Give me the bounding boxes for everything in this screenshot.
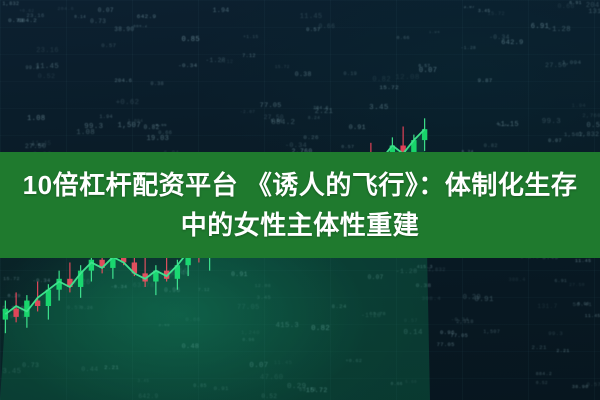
faint-number: 1,507: [483, 329, 500, 335]
faint-number: 99.3: [542, 118, 561, 126]
faint-number: 7.12: [242, 53, 256, 59]
title-line-1: 10倍杠杆配资平台 《诱人的飞行》：体制化生存: [23, 165, 578, 205]
faint-number: 0.57: [101, 42, 116, 49]
faint-number: 0.57: [418, 64, 430, 69]
title-line-2: 中的女性主体性重建: [23, 205, 578, 245]
faint-number: 0.07: [98, 7, 114, 14]
faint-number: 884.2: [536, 372, 552, 377]
faint-number: 0.19: [344, 71, 358, 77]
faint-number: 0.73: [8, 17, 24, 24]
faint-number: 0.73: [90, 18, 106, 25]
faint-number: 0.52: [587, 122, 600, 130]
faint-number: -1.28: [461, 46, 477, 51]
candle-body-up: [56, 279, 61, 290]
faint-number: 2,318: [456, 319, 474, 325]
faint-number: 23.16: [27, 13, 45, 19]
faint-number: 1,832: [428, 267, 446, 273]
faint-number: 1.94: [429, 31, 440, 35]
faint-number: 0.66: [319, 23, 336, 30]
faint-number: 15.72: [379, 84, 399, 91]
faint-number: 15.72: [275, 65, 290, 70]
faint-number: 0.82: [372, 76, 391, 84]
faint-number: 0.52: [38, 73, 56, 81]
faint-number: 9.87: [478, 77, 493, 84]
faint-number: -1.28: [205, 57, 225, 64]
faint-number: 6.91: [555, 279, 568, 284]
faint-number: 0.38: [295, 71, 312, 78]
faint-number: 0.66: [397, 36, 410, 41]
faint-number: 204.6: [57, 7, 74, 12]
faint-number: 99.3: [548, 330, 563, 337]
faint-number: -0.34: [178, 62, 197, 69]
faint-number: 204.6: [114, 78, 132, 84]
faint-number: 3.07: [464, 6, 475, 10]
faint-number: 12.08: [395, 74, 420, 82]
faint-number: 884.2: [133, 25, 147, 29]
faint-number: 1.94: [213, 7, 230, 14]
faint-number: 6.91: [531, 23, 549, 31]
faint-number: 77.05: [451, 333, 469, 339]
faint-number: 27.50: [545, 62, 567, 69]
faint-number: 0.14: [74, 15, 86, 20]
faint-number: 11.45: [585, 314, 600, 319]
faint-number: 0.82: [484, 143, 498, 149]
faint-number: 0.85: [181, 36, 200, 44]
faint-number: 642.9: [501, 39, 523, 47]
faint-number: 2.21: [556, 349, 569, 354]
thumbnail-image: 99.312.080.9611.450.441,5070.8527.50-1.2…: [0, 0, 600, 400]
faint-number: 3.45: [478, 9, 490, 14]
candle-body-down: [13, 309, 18, 317]
faint-number: +1.15: [496, 121, 519, 129]
faint-number: 38.90: [572, 385, 589, 390]
page-title: 10倍杠杆配资平台 《诱人的飞行》：体制化生存 中的女性主体性重建: [23, 165, 578, 245]
faint-number: 2,760: [582, 112, 600, 119]
faint-number: 27.50: [569, 283, 585, 288]
faint-number: 0.52: [536, 381, 548, 386]
faint-number: 38.90: [114, 26, 134, 33]
faint-number: 131.7: [537, 303, 557, 310]
title-banner: 10倍杠杆配资平台 《诱人的飞行》：体制化生存 中的女性主体性重建: [0, 152, 600, 258]
faint-number: 11.45: [575, 259, 591, 264]
faint-number: 0.07: [548, 138, 562, 144]
faint-number: 0.38: [150, 81, 164, 87]
faint-number: 23.16: [36, 47, 59, 55]
faint-number: +1.15: [243, 35, 259, 40]
faint-number: 1,832: [578, 131, 599, 138]
faint-number: 308.4: [508, 277, 525, 283]
faint-number: 0.91: [475, 296, 494, 304]
faint-number: 642.9: [137, 13, 157, 20]
faint-number: 204.6: [586, 2, 600, 10]
faint-number: 2.21: [532, 344, 547, 351]
faint-number: 11.45: [35, 63, 59, 71]
faint-number: 1.94: [572, 103, 586, 109]
faint-number: 0.66: [577, 302, 589, 307]
faint-number: -1.28: [547, 26, 571, 34]
faint-number: 6.91: [569, 1, 582, 6]
faint-number: 77.05: [437, 342, 455, 348]
faint-number: 1,832: [2, 1, 19, 7]
faint-number: 11.45: [300, 13, 323, 21]
